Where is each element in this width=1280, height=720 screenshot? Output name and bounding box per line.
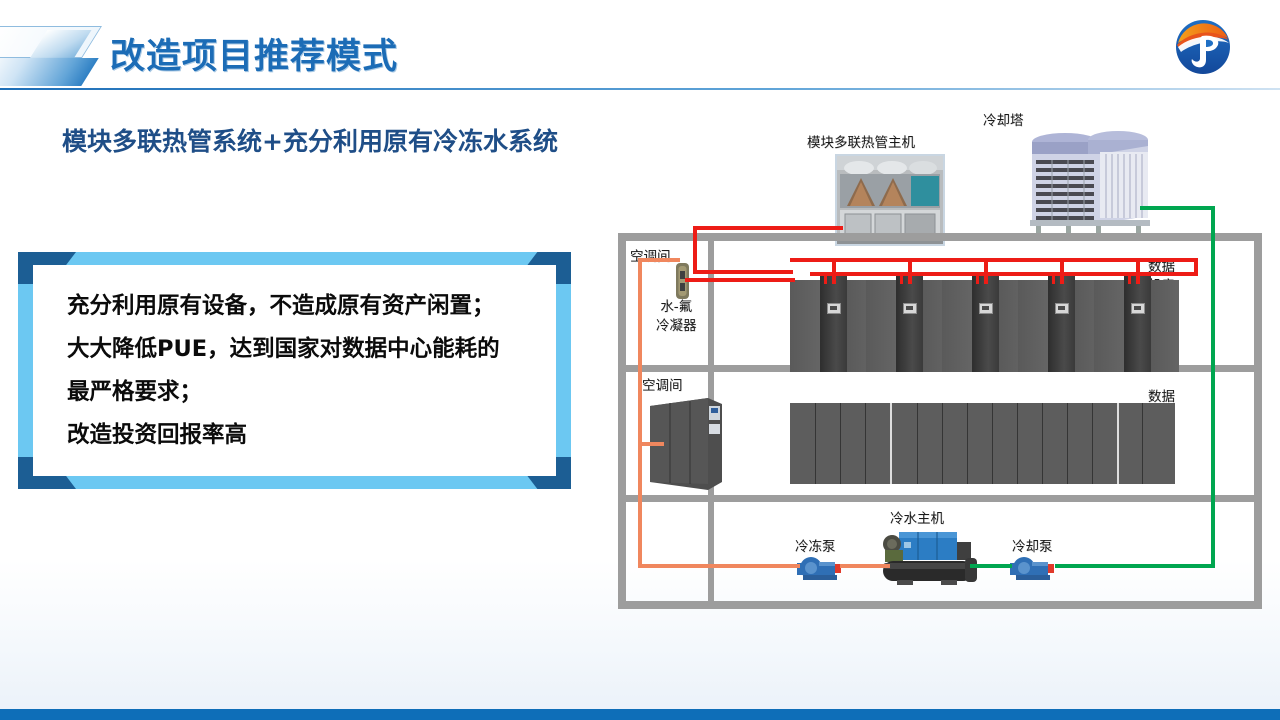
crac-unit (820, 276, 847, 372)
crac-display (827, 303, 841, 314)
slide-header: 改造项目推荐模式 (0, 0, 1280, 96)
heat-pipe-unit-illustration (837, 156, 943, 244)
refrigerant-pipe-condenser-link (685, 278, 795, 282)
crac-unit (972, 276, 999, 372)
server-rack (1151, 280, 1179, 372)
refrigerant-drop (1052, 272, 1055, 284)
refrigerant-pipe-right-riser (1194, 258, 1198, 276)
server-rack (866, 280, 896, 372)
chilled-water-pipe-to-condenser (638, 258, 680, 262)
refrigerant-pipe-riser (693, 226, 697, 274)
globe-logo-icon (1172, 16, 1234, 78)
callout-text: 充分利用原有设备，不造成原有资产闲置； 大大降低PUE，达到国家对数据中心能耗的… (67, 285, 546, 457)
server-rack-row-floor2 (790, 403, 1175, 484)
refrigerant-drop (976, 272, 979, 284)
header-divider (0, 88, 1280, 90)
chilled-water-pipe-bottom (638, 564, 800, 568)
server-rack (790, 280, 820, 372)
refrigerant-pipe-branch-a (693, 270, 793, 274)
water-chiller (875, 528, 980, 588)
refrigerant-drop (984, 258, 988, 284)
building-outer-wall-bottom (618, 601, 1262, 609)
pump-icon (797, 555, 845, 581)
cooling-water-pipe-bottom (1055, 564, 1215, 568)
label-chiller: 冷水主机 (890, 510, 944, 529)
server-rack (942, 280, 972, 372)
company-logo (1172, 16, 1234, 78)
cooling-tower-illustration (1010, 130, 1170, 235)
cooling-water-pump (1010, 555, 1058, 581)
building-outer-wall-right (1254, 233, 1262, 609)
crac-display (1055, 303, 1069, 314)
label-condenser: 水-氟 冷凝器 (656, 298, 697, 336)
refrigerant-drop (824, 272, 827, 284)
callout-body: 充分利用原有设备，不造成原有资产闲置； 大大降低PUE，达到国家对数据中心能耗的… (33, 265, 556, 476)
refrigerant-drop (1060, 258, 1064, 284)
chilled-water-pipe-riser (638, 258, 642, 568)
refrigerant-drop (832, 258, 836, 284)
cooling-tower-photo (1010, 130, 1170, 235)
header-arrow-fill-icon (0, 58, 99, 86)
crac-display (903, 303, 917, 314)
refrigerant-drop (908, 258, 912, 284)
crac-display (979, 303, 993, 314)
crac-unit (1048, 276, 1075, 372)
benefits-callout-box: 充分利用原有设备，不造成原有资产闲置； 大大降低PUE，达到国家对数据中心能耗的… (18, 252, 571, 489)
server-rack (1094, 280, 1124, 372)
server-rack (1018, 280, 1048, 372)
building-outer-wall-left (618, 233, 626, 609)
footer-bar (0, 709, 1280, 720)
building-floor-divider-2 (618, 495, 1262, 502)
cooling-water-pipe-chiller-to-pump (970, 564, 1012, 568)
refrigerant-drop (1128, 272, 1131, 284)
chiller-icon (875, 528, 980, 588)
chilled-water-pump (797, 555, 845, 581)
cooling-water-pipe-riser (1211, 206, 1215, 568)
refrigerant-drop (900, 272, 903, 284)
section-subtitle: 模块多联热管系统+充分利用原有冷冻水系统 (62, 122, 558, 158)
label-cooling-tower: 冷却塔 (983, 112, 1024, 131)
room-partition-floor1 (708, 241, 714, 365)
pump-icon (1010, 555, 1058, 581)
crac-display (1131, 303, 1145, 314)
refrigerant-pipe-top-horizontal (693, 226, 843, 230)
refrigerant-drop (1136, 258, 1140, 284)
chilled-water-pipe-pump-to-chiller (840, 564, 890, 568)
room-partition-floor3 (708, 502, 714, 601)
chilled-water-pipe-floor2-branch (638, 442, 664, 446)
label-ac-room-floor2: 空调间 (642, 377, 683, 396)
crac-unit (1124, 276, 1151, 372)
page-title: 改造项目推荐模式 (110, 28, 398, 79)
building-outer-wall-top (618, 233, 1262, 241)
system-diagram: 模块多联热管主机 冷却塔 (600, 100, 1280, 620)
cooling-water-pipe-to-tower (1140, 206, 1215, 210)
crac-unit (896, 276, 923, 372)
label-heat-pipe-unit: 模块多联热管主机 (807, 134, 915, 153)
